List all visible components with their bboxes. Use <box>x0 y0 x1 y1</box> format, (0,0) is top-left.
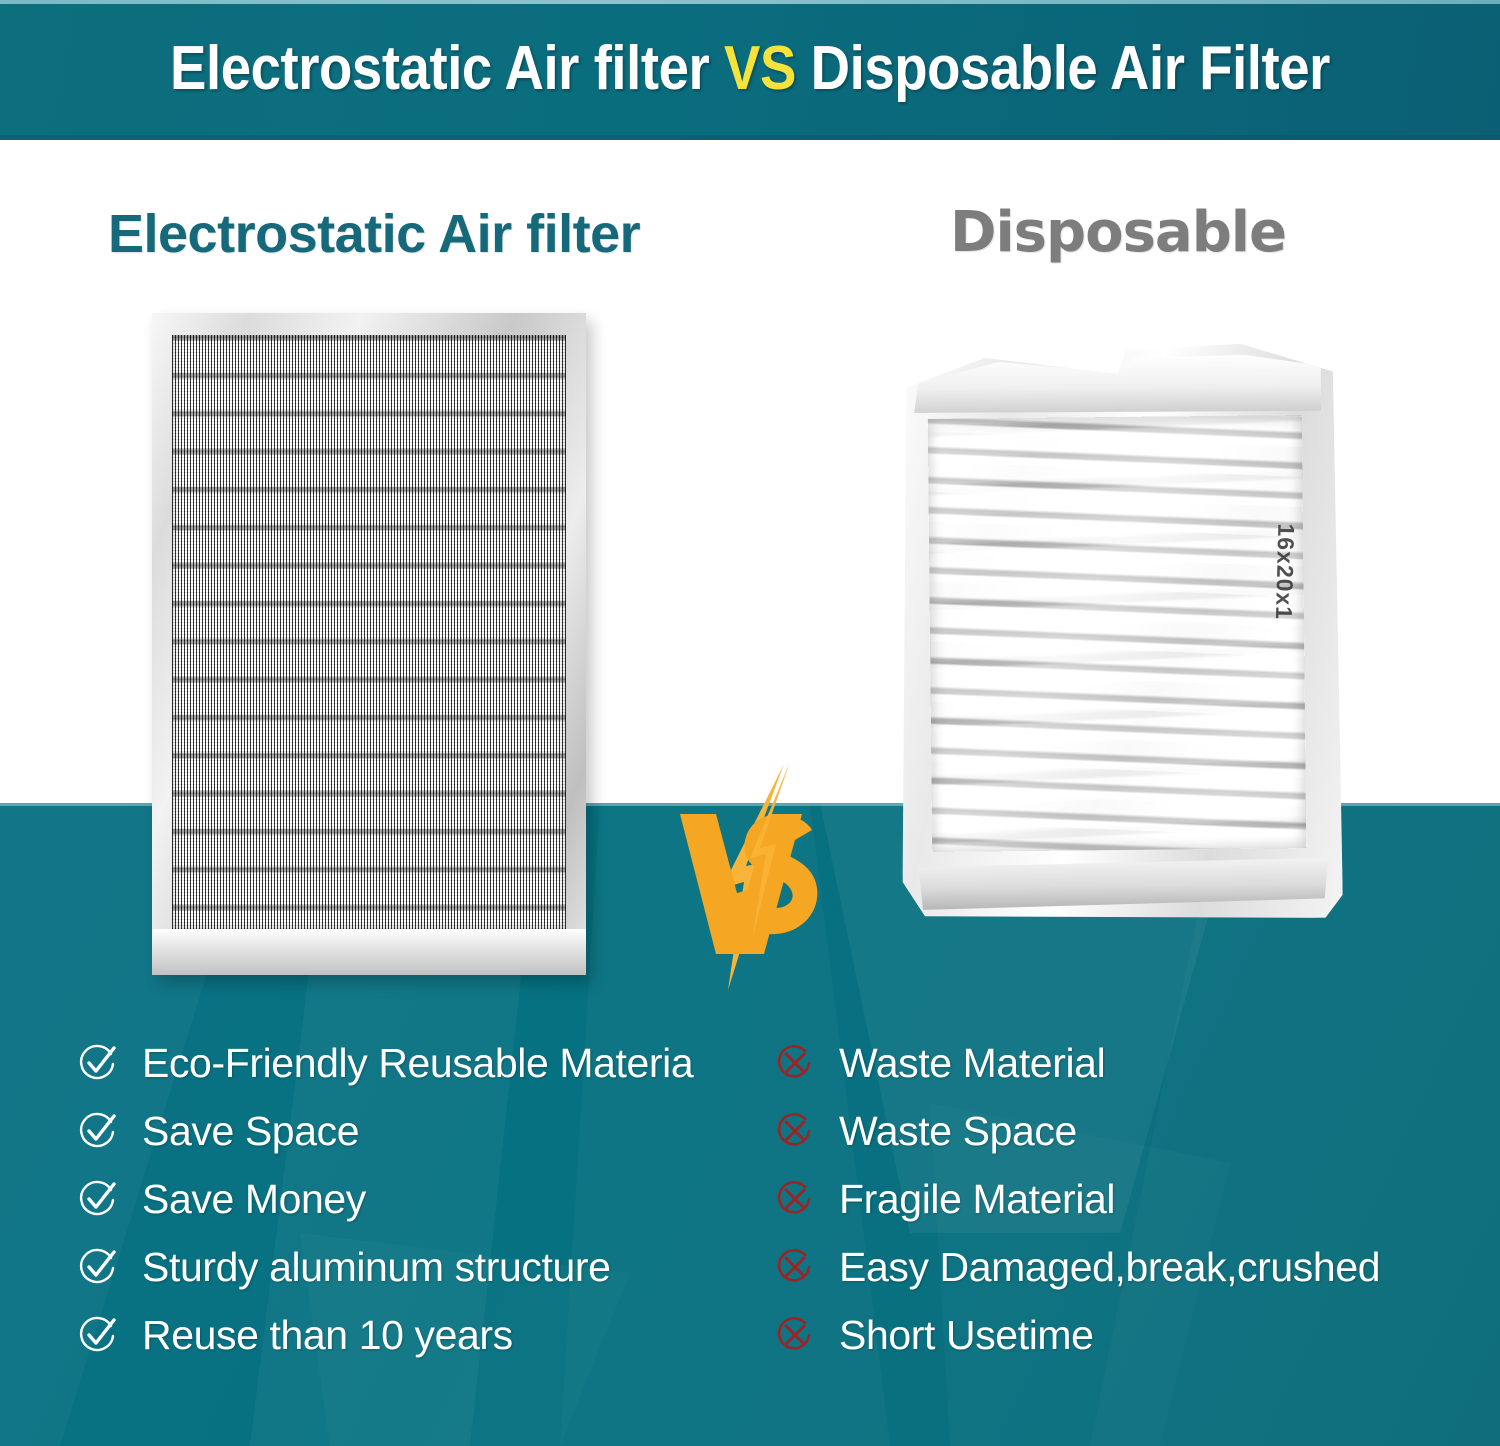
cons-item-label: Easy Damaged,break,crushed <box>839 1243 1380 1291</box>
list-item: Save Money <box>78 1166 768 1232</box>
disposable-filter-top-lip <box>905 353 1330 415</box>
left-column-title: Electrostatic Air filter <box>108 203 640 265</box>
disposable-filter-image: 16x20x1 <box>897 343 1343 923</box>
circle-x-icon <box>775 1111 815 1151</box>
pros-item-label: Eco-Friendly Reusable Materia <box>142 1039 693 1087</box>
header-banner: Electrostatic Air filter VS Disposable A… <box>0 0 1500 140</box>
list-item: Easy Damaged,break,crushed <box>775 1234 1475 1300</box>
right-column-title: Disposable <box>950 200 1286 266</box>
circle-x-icon <box>775 1043 815 1083</box>
cons-item-label: Short Usetime <box>839 1311 1094 1359</box>
list-item: Waste Space <box>775 1098 1475 1164</box>
list-item: Sturdy aluminum structure <box>78 1234 768 1300</box>
circle-x-icon <box>775 1247 815 1287</box>
list-item: Eco-Friendly Reusable Materia <box>78 1030 768 1096</box>
disposable-filter-media <box>928 415 1307 852</box>
cons-list: Waste Material Waste Space <box>775 1030 1475 1370</box>
infographic-page: Electrostatic Air filter VS Disposable A… <box>0 0 1500 1446</box>
circle-check-icon <box>78 1247 118 1287</box>
pros-item-label: Save Money <box>142 1175 366 1223</box>
page-title-vs: VS <box>724 34 796 103</box>
pros-item-label: Reuse than 10 years <box>142 1311 513 1359</box>
electrostatic-filter-mesh <box>172 335 566 929</box>
circle-check-icon <box>78 1179 118 1219</box>
comparison-lists: Eco-Friendly Reusable Materia Save Space <box>0 1030 1500 1430</box>
pros-item-label: Save Space <box>142 1107 359 1155</box>
list-item: Save Space <box>78 1098 768 1164</box>
cons-item-label: Waste Space <box>839 1107 1077 1155</box>
vs-badge <box>672 762 832 992</box>
circle-check-icon <box>78 1315 118 1355</box>
cons-item-label: Fragile Material <box>839 1175 1115 1223</box>
pros-item-label: Sturdy aluminum structure <box>142 1243 611 1291</box>
disposable-filter-size-label: 16x20x1 <box>1270 523 1299 620</box>
page-title-part2: Disposable Air Filter <box>796 34 1330 103</box>
electrostatic-filter-image <box>152 313 586 975</box>
cons-item-label: Waste Material <box>839 1039 1105 1087</box>
circle-x-icon <box>775 1315 815 1355</box>
disposable-filter-bottom-lip <box>918 858 1329 914</box>
list-item: Reuse than 10 years <box>78 1302 768 1368</box>
circle-check-icon <box>78 1043 118 1083</box>
electrostatic-filter-frame-bottom <box>152 929 586 975</box>
page-title: Electrostatic Air filter VS Disposable A… <box>90 33 1410 105</box>
list-item: Waste Material <box>775 1030 1475 1096</box>
vs-letter-v <box>680 814 802 954</box>
list-item: Short Usetime <box>775 1302 1475 1368</box>
pros-list: Eco-Friendly Reusable Materia Save Space <box>78 1030 768 1370</box>
page-title-part1: Electrostatic Air filter <box>170 34 724 103</box>
list-item: Fragile Material <box>775 1166 1475 1232</box>
disposable-filter-frame <box>897 343 1343 923</box>
circle-check-icon <box>78 1111 118 1151</box>
circle-x-icon <box>775 1179 815 1219</box>
